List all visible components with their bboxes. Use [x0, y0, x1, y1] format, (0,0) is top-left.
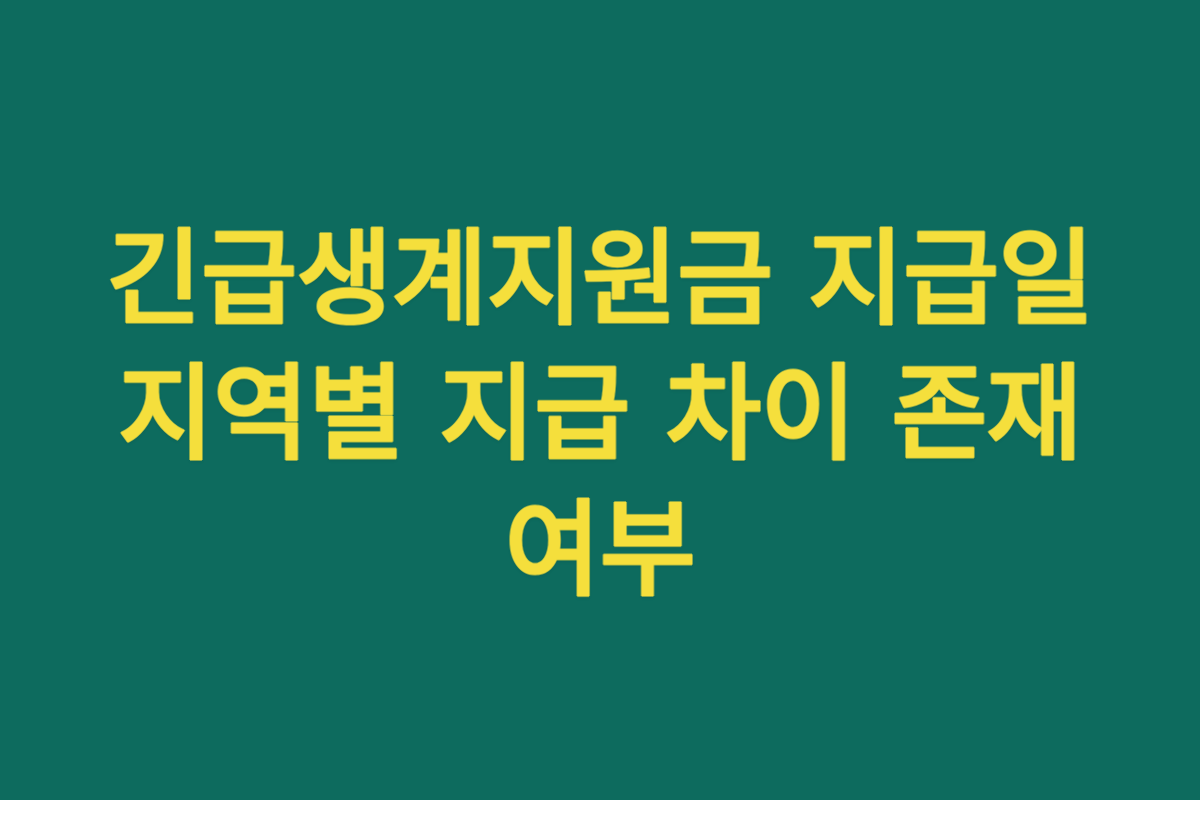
- title-card: 긴급생계지원금 지급일 지역별 지급 차이 존재 여부: [0, 0, 1200, 800]
- headline-container: 긴급생계지원금 지급일 지역별 지급 차이 존재 여부: [50, 15, 1150, 815]
- headline-text: 긴급생계지원금 지급일 지역별 지급 차이 존재 여부: [50, 212, 1150, 618]
